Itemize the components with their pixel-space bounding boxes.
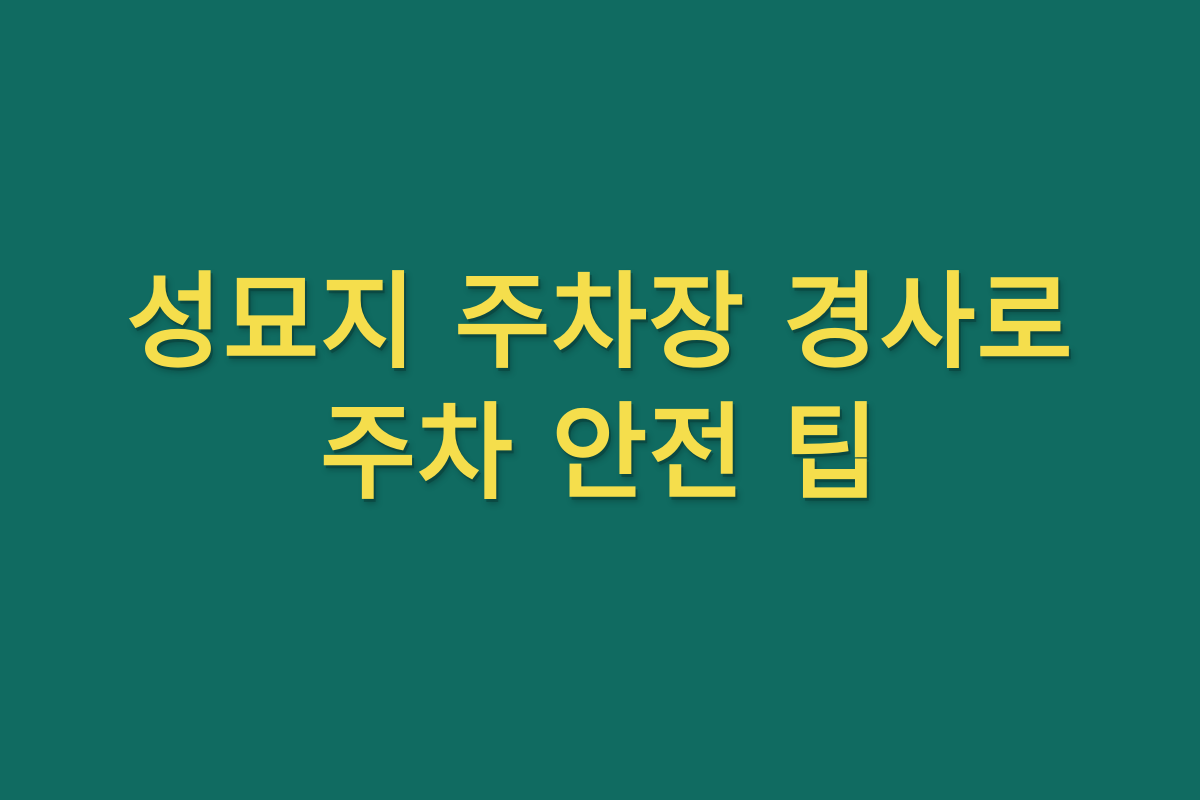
title-card: 성묘지 주차장 경사로 주차 안전 팁 [0, 0, 1200, 800]
headline-block: 성묘지 주차장 경사로 주차 안전 팁 [80, 257, 1120, 519]
page-title: 성묘지 주차장 경사로 주차 안전 팁 [80, 257, 1120, 519]
